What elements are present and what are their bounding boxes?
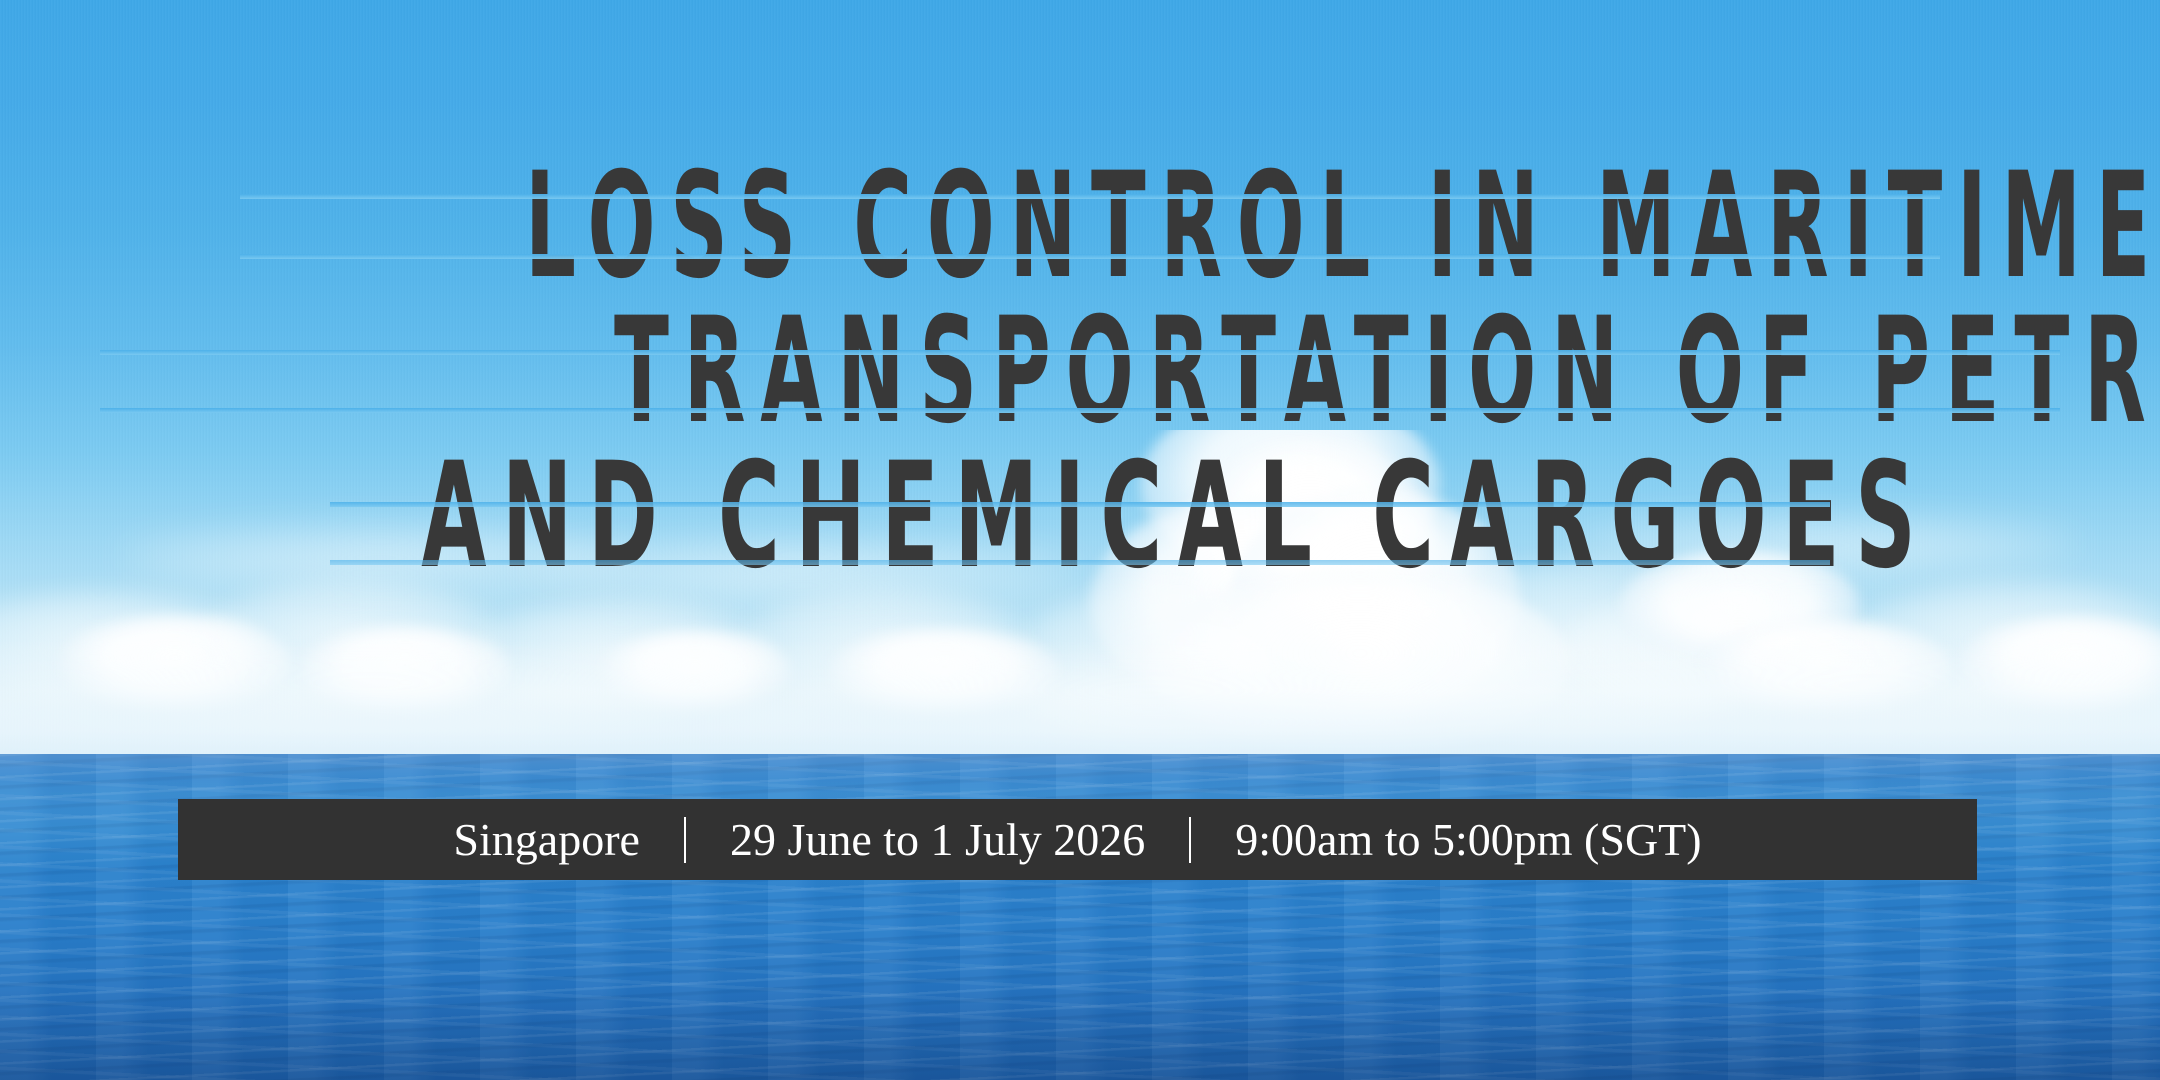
title-line-1: LOSS CONTROL IN MARITIME [0, 158, 2160, 295]
details-separator-2 [1189, 817, 1191, 863]
details-separator-1 [684, 817, 686, 863]
event-times: 9:00am to 5:00pm (SGT) [1235, 817, 1701, 863]
title-line-2: TRANSPORTATION OF PETROLEUM [0, 303, 2160, 440]
event-dates: 29 June to 1 July 2026 [730, 817, 1145, 863]
sea-deep-shadow [0, 990, 2160, 1080]
title-line-3-text: AND CHEMICAL CARGOES [421, 448, 1931, 585]
title-line-1-text: LOSS CONTROL IN MARITIME [525, 158, 2160, 295]
event-banner: LOSS CONTROL IN MARITIME TRANSPORTATION … [0, 0, 2160, 1080]
title-line-2-text: TRANSPORTATION OF PETROLEUM [614, 303, 2160, 440]
event-location: Singapore [453, 817, 640, 863]
event-details-bar: Singapore 29 June to 1 July 2026 9:00am … [178, 799, 1977, 880]
horizon-haze [0, 640, 2160, 754]
title-line-3: AND CHEMICAL CARGOES [0, 448, 2160, 585]
event-details-row: Singapore 29 June to 1 July 2026 9:00am … [453, 817, 1701, 863]
page-title: LOSS CONTROL IN MARITIME TRANSPORTATION … [0, 158, 2160, 586]
